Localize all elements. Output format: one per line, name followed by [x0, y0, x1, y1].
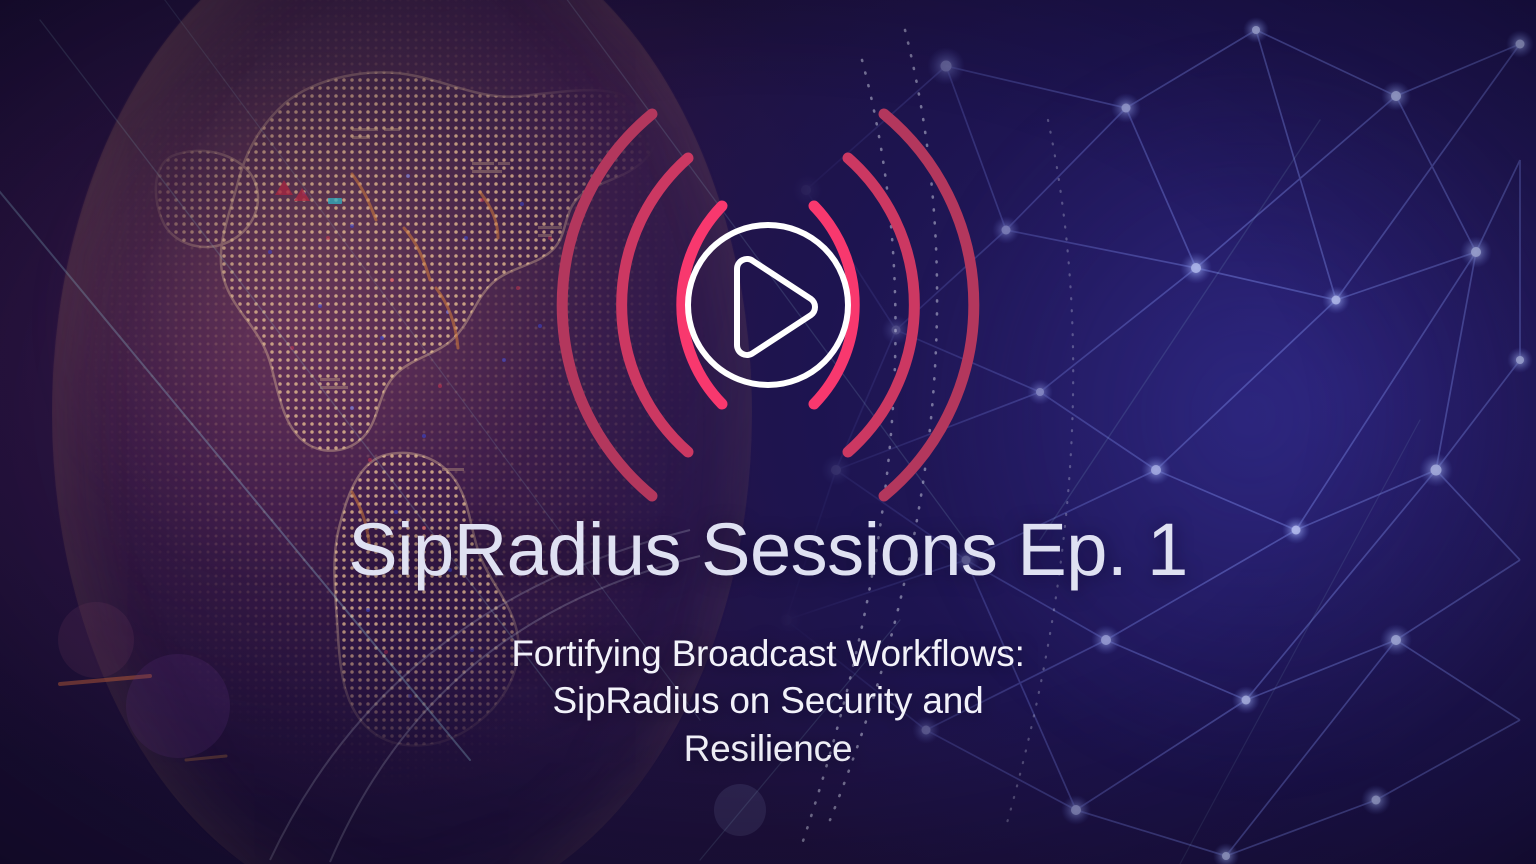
page-title: SipRadius Sessions Ep. 1 — [0, 512, 1536, 587]
subtitle-line-3: Resilience — [448, 725, 1088, 772]
play-button-with-broadcast-waves[interactable] — [476, 22, 1060, 588]
play-circle-icon — [688, 225, 848, 385]
video-thumbnail-slide: SipRadius Sessions Ep. 1 Fortifying Broa… — [0, 0, 1536, 864]
broadcast-wave-arcs — [562, 114, 974, 496]
page-subtitle: Fortifying Broadcast Workflows: SipRadiu… — [448, 630, 1088, 772]
subtitle-line-1: Fortifying Broadcast Workflows: — [448, 630, 1088, 677]
subtitle-line-2: SipRadius on Security and — [448, 677, 1088, 724]
